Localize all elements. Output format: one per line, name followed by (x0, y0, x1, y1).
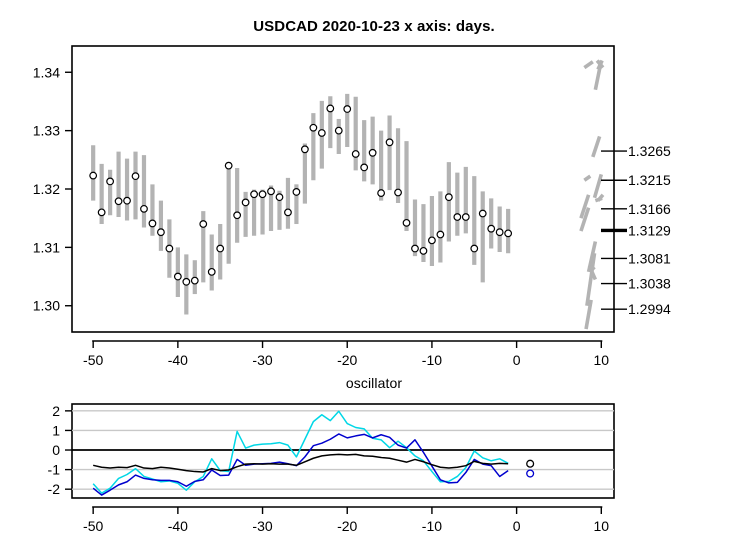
osc-y-tick-label: 0 (52, 442, 60, 458)
price-close-marker (268, 188, 275, 195)
price-y-tick-label: 1.31 (33, 239, 60, 255)
price-close-marker (446, 194, 453, 201)
price-close-marker (505, 230, 512, 237)
price-x-tick-label: -20 (337, 352, 357, 368)
price-close-marker (251, 191, 258, 198)
price-close-marker (183, 279, 190, 286)
price-close-marker (225, 162, 232, 169)
price-close-marker (200, 221, 207, 228)
osc-endpoint-marker (527, 460, 534, 467)
price-close-marker (369, 150, 376, 157)
price-close-marker (217, 245, 224, 252)
chart-root: USDCAD 2020-10-23 x axis: days. 1.301.31… (0, 0, 748, 560)
price-close-marker (141, 206, 148, 213)
price-close-marker (403, 220, 410, 227)
price-y-tick-label: 1.32 (33, 181, 60, 197)
price-close-marker (378, 190, 385, 197)
forecast-segment (584, 176, 590, 180)
price-close-marker (242, 199, 249, 206)
osc-series-fast (93, 411, 508, 493)
price-close-marker (352, 151, 359, 158)
osc-x-tick-label: -30 (252, 518, 272, 534)
price-close-marker (259, 191, 266, 198)
forecast-segment (595, 174, 602, 197)
price-level-label: 1.3038 (628, 276, 671, 292)
price-close-marker (90, 172, 97, 179)
price-close-marker (276, 194, 283, 201)
price-close-marker (285, 209, 292, 216)
price-close-marker (488, 225, 495, 232)
price-close-marker (335, 127, 342, 134)
osc-x-tick-label: 10 (594, 518, 610, 534)
price-close-marker (166, 245, 173, 252)
price-x-tick-label: 0 (513, 352, 521, 368)
osc-x-tick-label: 0 (513, 518, 521, 534)
price-chart: 1.301.311.321.331.34-50-40-30-20-100101.… (0, 0, 748, 370)
price-close-marker (234, 212, 241, 219)
price-close-marker (208, 269, 215, 276)
price-level-label: 1.3129 (628, 222, 671, 238)
price-bars (90, 94, 512, 315)
price-x-tick-label: -30 (252, 352, 272, 368)
price-close-marker (471, 245, 478, 252)
forecast-segment (593, 136, 600, 156)
price-close-marker (293, 189, 300, 196)
price-close-marker (437, 231, 444, 238)
osc-y-tick-label: -2 (48, 481, 61, 497)
osc-x-tick-label: -50 (83, 518, 103, 534)
price-y-tick-label: 1.30 (33, 298, 60, 314)
price-close-marker (107, 178, 114, 185)
price-close-marker (344, 106, 351, 113)
price-level-lines: 1.32651.32151.31661.31291.30811.30381.29… (601, 143, 671, 317)
osc-x-tick-label: -20 (337, 518, 357, 534)
oscillator-chart-title: oscillator (0, 375, 748, 391)
price-level-label: 1.3166 (628, 201, 671, 217)
osc-series-slow (93, 434, 508, 495)
price-close-marker (302, 146, 309, 153)
price-x-tick-label: -40 (168, 352, 188, 368)
price-x-tick-label: -50 (83, 352, 103, 368)
osc-endpoint-marker (527, 470, 534, 477)
price-x-tick-label: 10 (594, 352, 610, 368)
price-close-marker (149, 220, 156, 227)
price-close-marker (361, 164, 368, 171)
price-close-marker (115, 198, 122, 205)
forecast-segment (584, 62, 592, 68)
price-close-marker (191, 277, 198, 284)
osc-y-tick-label: 2 (52, 403, 60, 419)
osc-y-tick-label: -1 (48, 462, 61, 478)
price-close-marker (412, 245, 419, 252)
osc-x-tick-label: -10 (422, 518, 442, 534)
forecast-segment (595, 198, 602, 200)
price-close-marker (496, 229, 503, 236)
price-y-tick-label: 1.34 (33, 64, 60, 80)
forecast-segments (581, 61, 603, 329)
osc-x-tick-label: -40 (168, 518, 188, 534)
price-level-label: 1.3215 (628, 172, 671, 188)
price-level-label: 1.2994 (628, 301, 671, 317)
price-close-marker (310, 124, 317, 131)
price-close-marker (98, 209, 105, 216)
price-close-marker (454, 214, 461, 221)
price-close-marker (429, 237, 436, 244)
price-level-label: 1.3081 (628, 250, 671, 266)
price-close-marker (158, 229, 165, 236)
price-close-marker (479, 210, 486, 217)
price-y-tick-label: 1.33 (33, 123, 60, 139)
oscillator-chart: -2-1012-50-40-30-20-10010 (0, 390, 748, 560)
price-close-marker (386, 139, 393, 146)
price-x-tick-label: -10 (422, 352, 442, 368)
price-close-marker (395, 189, 402, 196)
price-close-marker (132, 173, 139, 180)
price-close-marker (175, 273, 182, 280)
price-close-marker (319, 130, 326, 137)
price-close-marker (327, 105, 334, 112)
osc-y-tick-label: 1 (52, 422, 60, 438)
price-close-marker (124, 197, 131, 204)
price-level-label: 1.3265 (628, 143, 671, 159)
price-close-marker (420, 248, 427, 255)
price-close-marker (462, 214, 469, 221)
